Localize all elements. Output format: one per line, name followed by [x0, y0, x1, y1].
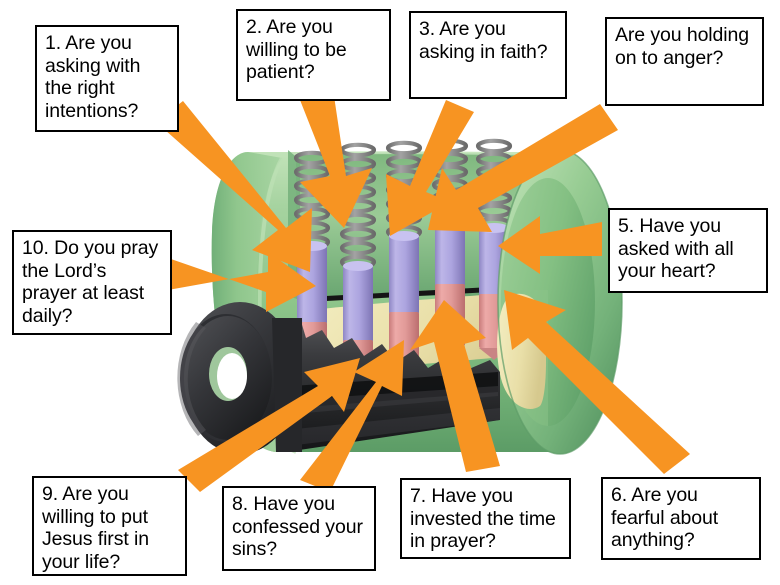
callout-2-patient[interactable]: 2. Are you willing to be patient? [236, 9, 391, 101]
callout-8-confessed-sins[interactable]: 8. Have you confessed your sins? [222, 486, 376, 571]
callout-6-fearful[interactable]: 6. Are you fearful about anything? [601, 477, 761, 560]
callout-3-faith[interactable]: 3. Are you asking in faith? [409, 11, 567, 99]
driver-pin-3 [389, 231, 419, 314]
driver-pin-2 [343, 261, 373, 342]
callout-9-jesus-first[interactable]: 9. Are you willing to put Jesus first in… [32, 476, 187, 576]
callout-7-time-in-prayer[interactable]: 7. Have you invested the time in prayer? [400, 478, 571, 559]
callout-5-whole-heart[interactable]: 5. Have you asked with all your heart? [608, 208, 768, 293]
callout-4-anger[interactable]: Are you holding on to anger? [605, 17, 764, 106]
diagram-canvas: 1. Are you asking with the right intenti… [0, 0, 780, 585]
callout-10-lords-prayer[interactable]: 10. Do you pray the Lord’s prayer at lea… [12, 230, 172, 335]
callout-1-right-intentions[interactable]: 1. Are you asking with the right intenti… [35, 25, 179, 132]
